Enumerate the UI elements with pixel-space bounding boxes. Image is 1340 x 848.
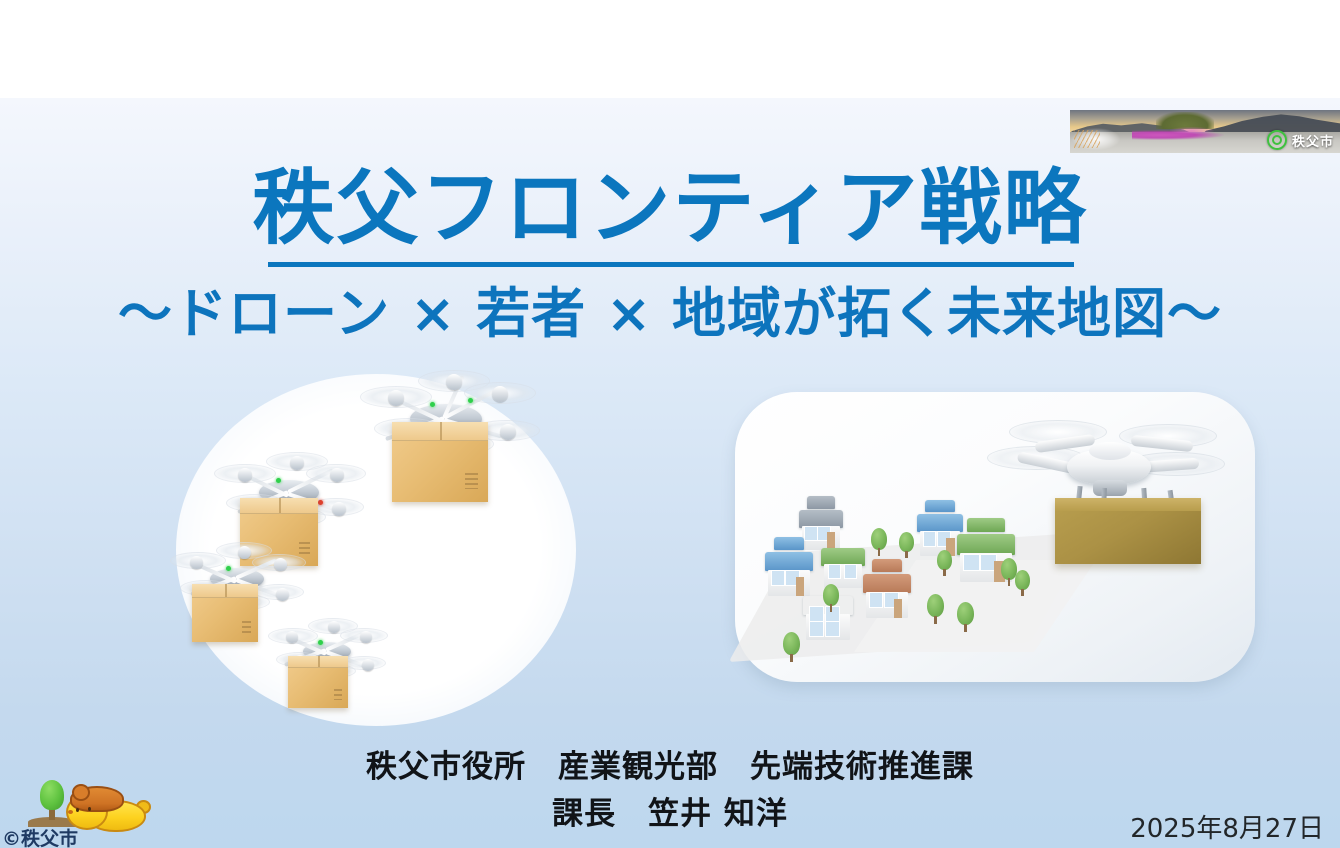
tree	[871, 528, 887, 556]
drone-bottom	[268, 622, 386, 688]
tree-trunk	[790, 654, 793, 662]
drone-motor-hub	[388, 390, 404, 406]
tree-trunk	[934, 616, 937, 624]
tree-trunk	[905, 551, 907, 558]
title-underline	[268, 262, 1074, 267]
house-window	[828, 564, 841, 579]
banner-light-rays	[1074, 130, 1100, 148]
drone-motor-hub	[500, 424, 516, 440]
copyright-label: ©秩父市	[2, 824, 78, 848]
mascot-tree-crown	[40, 780, 64, 810]
drone-motor-hub	[362, 659, 374, 671]
parcel-seam	[440, 422, 442, 440]
house-window	[809, 621, 824, 637]
house-green-left	[821, 548, 865, 588]
house-roof	[863, 574, 911, 593]
tree-trunk	[1008, 578, 1011, 586]
delivery-parcel	[192, 584, 258, 642]
tree-crown	[957, 602, 974, 625]
parcel-seam	[279, 498, 281, 513]
delivery-quadcopter	[993, 416, 1223, 566]
drone-led-red	[318, 500, 323, 505]
house-door	[796, 577, 805, 596]
drone-motor-hub	[332, 502, 346, 516]
house-gray	[799, 510, 843, 550]
delivery-parcel	[288, 656, 348, 708]
drone-motor-hub	[328, 621, 340, 633]
mascot-nose	[68, 810, 73, 814]
house-roof	[807, 496, 835, 508]
banner-city-label: 秩父市	[1292, 131, 1334, 150]
drone-swarm-illustration	[150, 360, 610, 740]
tree	[783, 632, 800, 662]
tree-trunk	[878, 548, 881, 556]
banner-flower-field-highlight	[1170, 127, 1214, 134]
house-window	[869, 592, 883, 608]
house-window	[804, 526, 817, 541]
drone-motor-hub	[446, 374, 462, 390]
tree-crown	[871, 528, 887, 550]
cargo-crate-top	[1055, 498, 1201, 511]
tree	[937, 550, 952, 576]
drone-motor-hub	[360, 631, 372, 643]
house-window	[809, 606, 824, 622]
tree	[927, 594, 944, 624]
slide-title: 秩父フロンティア戦略	[0, 168, 1340, 250]
tree	[899, 532, 914, 558]
delivery-parcel	[392, 422, 488, 502]
house-roof	[925, 500, 954, 513]
top-white-band	[0, 0, 1340, 98]
tree-trunk	[1021, 589, 1023, 596]
house-window	[963, 554, 980, 571]
house-blue-left	[765, 552, 813, 596]
tree-crown	[937, 550, 952, 570]
drone-motor-hub	[290, 456, 304, 470]
parcel-label	[465, 473, 478, 489]
drone-motor-hub	[238, 546, 251, 559]
drone-motor-hub	[276, 588, 289, 601]
tree-trunk	[830, 604, 833, 612]
tree	[823, 584, 839, 612]
parcel-seam	[225, 584, 227, 597]
drone-lower-left	[170, 546, 304, 620]
drone-motor-hub	[286, 631, 298, 643]
house-roof	[774, 537, 805, 550]
presentation-date: 2025年8月27日	[1130, 808, 1324, 845]
quadcopter-cargo-mount	[1093, 480, 1127, 496]
house-window	[771, 570, 785, 586]
cargo-crate	[1055, 498, 1201, 564]
tree-crown	[1015, 570, 1030, 590]
quadcopter-canopy	[1089, 442, 1131, 460]
drone-led-green	[468, 398, 473, 403]
drone-motor-hub	[492, 386, 508, 402]
parcel-label	[242, 621, 251, 633]
house-orange	[863, 574, 911, 618]
mascot-eye	[88, 807, 91, 811]
drone-led-green	[226, 566, 231, 571]
house-window	[923, 531, 937, 546]
banner-logo-group: 秩父市	[1267, 130, 1334, 150]
presentation-slide: 秩父市 秩父フロンティア戦略 〜ドローン × 若者 × 地域が拓く未来地図〜	[0, 0, 1340, 848]
tree-trunk	[964, 624, 967, 632]
tree	[1015, 570, 1030, 596]
mascot-eye	[76, 808, 79, 812]
house-door	[894, 599, 903, 618]
drone-led-green	[318, 640, 323, 645]
drone-motor-hub	[274, 558, 287, 571]
parcel-label	[334, 689, 342, 699]
tree-crown	[927, 594, 944, 617]
drone-motor-hub	[190, 556, 203, 569]
tree-trunk	[943, 569, 945, 576]
house-roof	[821, 548, 865, 566]
house-roof	[799, 510, 843, 528]
house-roof	[765, 552, 813, 571]
slide-subtitle: 〜ドローン × 若者 × 地域が拓く未来地図〜	[0, 284, 1340, 343]
chichibu-city-emblem-icon	[1267, 130, 1287, 150]
drone-led-green	[276, 478, 281, 483]
mascot-ear	[72, 784, 90, 801]
tree-crown	[899, 532, 914, 552]
drone-mid	[214, 456, 364, 536]
house-window	[844, 564, 857, 579]
tree	[957, 602, 974, 632]
house-roof	[917, 514, 963, 532]
parcel-seam	[318, 656, 320, 667]
village-delivery-illustration	[735, 392, 1255, 682]
house-window	[825, 621, 840, 637]
drone-motor-hub	[330, 468, 344, 482]
organization-line: 秩父市役所 産業観光部 先端技術推進課	[0, 748, 1340, 788]
drone-large	[358, 376, 534, 466]
house-roof	[872, 559, 903, 572]
drone-led-green	[430, 402, 435, 407]
header-photo-banner: 秩父市	[1070, 110, 1340, 153]
tree-crown	[783, 632, 800, 655]
drone-motor-hub	[238, 468, 252, 482]
tree-crown	[823, 584, 839, 606]
